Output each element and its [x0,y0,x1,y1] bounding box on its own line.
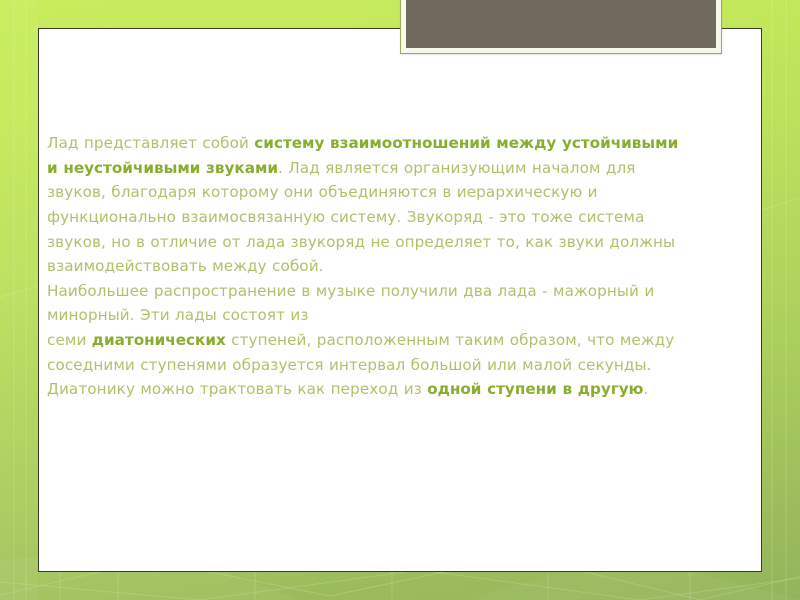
body-text-run: . Лад является организующим началом для … [47,159,680,349]
body-text-run: Лад представляет собой [47,134,254,152]
image-placeholder-fill [406,0,716,48]
slide-root: Лад представляет собой систему взаимоотн… [0,0,800,600]
body-paragraph: Лад представляет собой систему взаимоотн… [47,131,679,402]
body-text-emphasis: диатонических [92,331,226,349]
slide-body-text: Лад представляет собой систему взаимоотн… [47,82,679,451]
body-text-emphasis: одной ступени в другую [427,380,643,398]
image-placeholder[interactable] [400,0,722,54]
body-text-run: . [643,380,648,398]
